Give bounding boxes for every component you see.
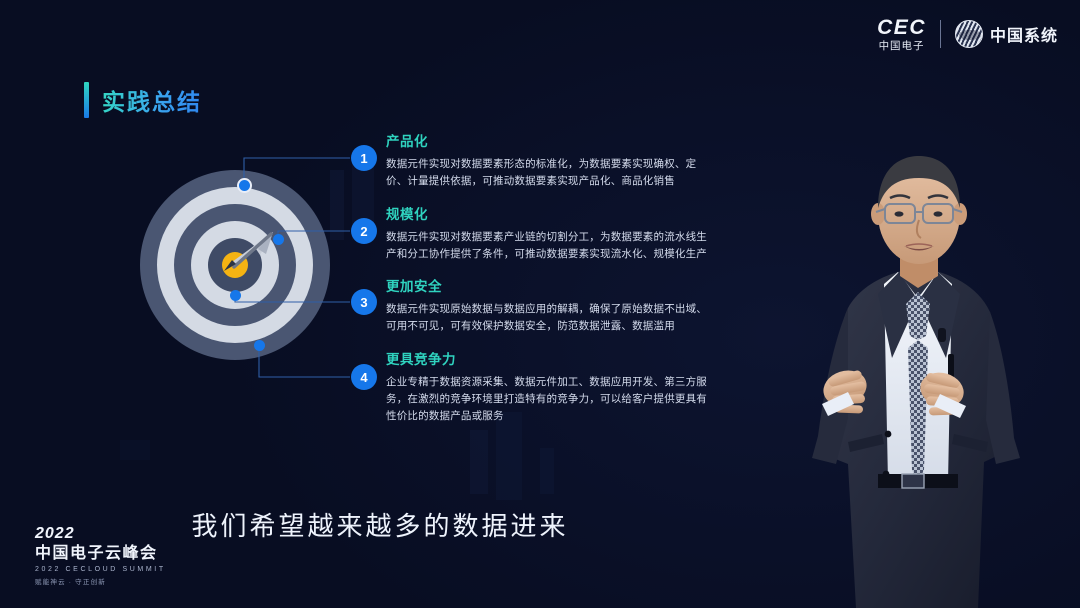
summit-year: 2022	[35, 526, 166, 542]
summary-item-1: 产品化 数据元件实现对数据要素形态的标准化，为数据要素实现确权、定价、计量提供依…	[386, 130, 716, 190]
summary-item-2: 规模化 数据元件实现对数据要素产业链的切割分工，为数据要素的流水线生产和分工协作…	[386, 203, 716, 263]
dartboard-icon	[140, 170, 330, 360]
item-number-1[interactable]: 1	[351, 145, 377, 171]
connector-dot-4	[254, 340, 265, 351]
presenter-photo	[752, 152, 1080, 608]
connector-dot-1	[239, 180, 250, 191]
watermark-shape	[496, 412, 522, 500]
brand-divider	[940, 20, 941, 48]
item-title-1: 产品化	[386, 130, 716, 150]
cetc-circle-icon	[955, 20, 983, 48]
connector-dot-3	[230, 290, 241, 301]
item-number-4[interactable]: 4	[351, 364, 377, 390]
item-number-3[interactable]: 3	[351, 289, 377, 315]
item-body-1: 数据元件实现对数据要素形态的标准化，为数据要素实现确权、定价、计量提供依据，可推…	[386, 156, 716, 190]
summit-tagline: 赋能神云 · 守正创新	[35, 580, 166, 587]
slide-stage: CEC 中国电子 中国系统 实践总结	[0, 0, 1080, 608]
summit-logo: 2022 中国电子云峰会 2022 CECLOUD SUMMIT 赋能神云 · …	[35, 526, 166, 587]
cec-logo-name: 中国电子	[879, 41, 925, 52]
item-body-3: 数据元件实现原始数据与数据应用的解耦，确保了原始数据不出域、可用不可见，可有效保…	[386, 301, 716, 335]
summary-item-3: 更加安全 数据元件实现原始数据与数据应用的解耦，确保了原始数据不出域、可用不可见…	[386, 275, 716, 335]
page-title-text: 实践总结	[102, 83, 202, 117]
item-title-4: 更具竞争力	[386, 348, 716, 368]
item-title-3: 更加安全	[386, 275, 716, 295]
partner-logo: 中国系统	[955, 20, 1058, 48]
item-title-2: 规模化	[386, 203, 716, 223]
watermark-shape	[540, 448, 554, 494]
watermark-shape	[120, 440, 150, 460]
summit-english: 2022 CECLOUD SUMMIT	[35, 566, 166, 573]
watermark-shape	[330, 170, 344, 240]
connector-dot-2	[273, 234, 284, 245]
dart-icon	[140, 170, 330, 360]
page-title: 实践总结	[84, 82, 202, 118]
cec-logo: CEC 中国电子	[877, 17, 926, 52]
item-number-2[interactable]: 2	[351, 218, 377, 244]
title-accent-bar	[84, 82, 89, 118]
brand-bar: CEC 中国电子 中国系统	[877, 14, 1058, 54]
item-body-2: 数据元件实现对数据要素产业链的切割分工，为数据要素的流水线生产和分工协作提供了条…	[386, 229, 716, 263]
summary-item-4: 更具竞争力 企业专精于数据资源采集、数据元件加工、数据应用开发、第三方服务，在激…	[386, 348, 716, 425]
partner-logo-name: 中国系统	[990, 22, 1058, 46]
item-body-4: 企业专精于数据资源采集、数据元件加工、数据应用开发、第三方服务，在激烈的竞争环境…	[386, 374, 716, 425]
cec-logo-mark: CEC	[877, 17, 926, 38]
summit-name: 中国电子云峰会	[35, 546, 166, 562]
watermark-shape	[470, 430, 488, 494]
